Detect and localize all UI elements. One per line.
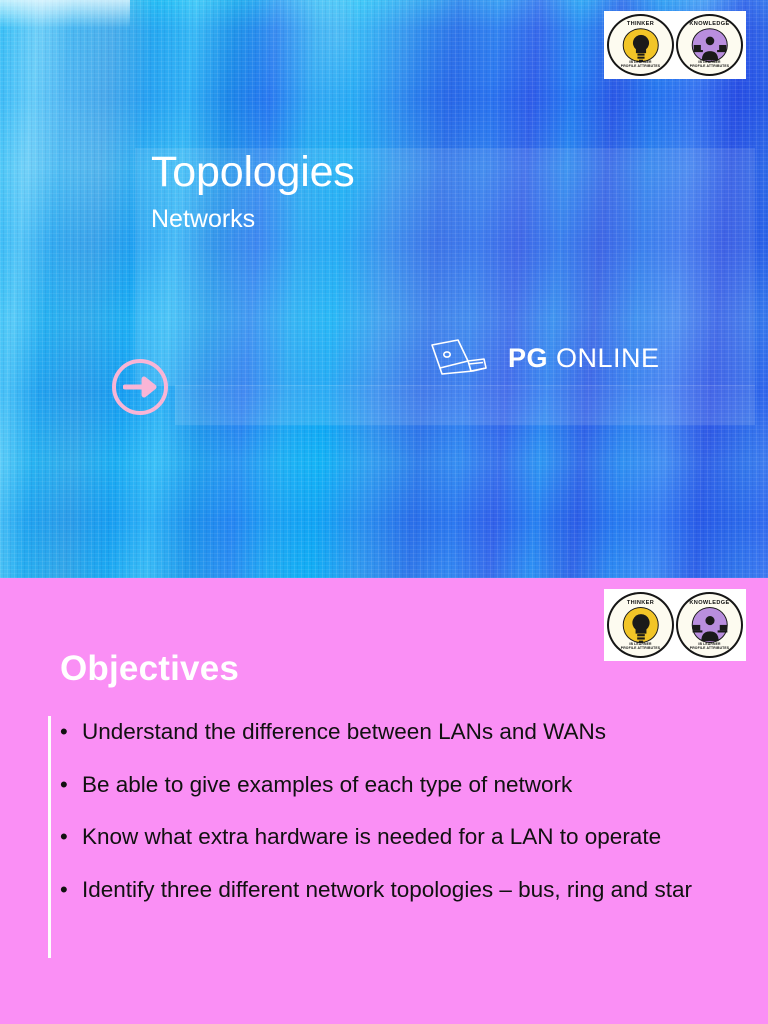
bullet-dot-icon: • bbox=[60, 821, 82, 853]
badge-thinker-caption-bottom: IB LEARNER PROFILE ATTRIBUTES bbox=[609, 643, 672, 650]
bullet-dot-icon: • bbox=[60, 874, 82, 906]
background-paint-base bbox=[0, 0, 768, 578]
list-item: • Know what extra hardware is needed for… bbox=[60, 821, 740, 854]
ib-badges-top: THINKER IB LEARNER PROFILE ATTRIBUTES bbox=[604, 11, 746, 79]
lower-overlay-band bbox=[175, 385, 755, 425]
background-white-scuff bbox=[0, 0, 130, 32]
background-canvas-weave bbox=[0, 0, 768, 578]
badge-thinker-caption-line2: PROFILE ATTRIBUTES bbox=[621, 646, 660, 650]
objectives-heading: Objectives bbox=[60, 649, 239, 689]
badge-thinker: THINKER IB LEARNER PROFILE ATTRIBUTES bbox=[607, 592, 674, 658]
background-paint-blotches bbox=[0, 0, 768, 578]
brand-secondary: ONLINE bbox=[556, 343, 660, 373]
bullet-list-rule bbox=[48, 716, 51, 958]
background-paint-shading bbox=[0, 0, 768, 578]
bullet-dot-icon: • bbox=[60, 716, 82, 748]
list-item-label: Identify three different network topolog… bbox=[82, 874, 740, 907]
badge-knowledge-caption-bottom: IB LEARNER PROFILE ATTRIBUTES bbox=[678, 643, 741, 650]
page-title: Topologies bbox=[151, 150, 355, 195]
badge-knowledge-caption-bottom: IB LEARNER PROFILE ATTRIBUTES bbox=[678, 61, 741, 68]
list-item-label: Be able to give examples of each type of… bbox=[82, 769, 740, 802]
badge-knowledge-caption-line2: PROFILE ATTRIBUTES bbox=[690, 64, 729, 68]
list-item: • Be able to give examples of each type … bbox=[60, 769, 740, 802]
background-paint-striations bbox=[0, 0, 768, 578]
badge-thinker-caption-line2: PROFILE ATTRIBUTES bbox=[621, 64, 660, 68]
badge-knowledge: KNOWLEDGE IB LEARNER PROFILE ATTRIBUTES bbox=[676, 592, 743, 658]
brand-primary: PG bbox=[508, 343, 548, 373]
list-item-label: Understand the difference between LANs a… bbox=[82, 716, 740, 749]
brand-logo: PG ONLINE bbox=[428, 335, 660, 381]
presentation-page: Topologies Networks bbox=[0, 0, 768, 1024]
brand-wordmark: PG ONLINE bbox=[508, 345, 660, 372]
ib-badges-bottom: THINKER IB LEARNER PROFILE ATTRIBUTES KN… bbox=[604, 589, 746, 661]
badge-thinker: THINKER IB LEARNER PROFILE ATTRIBUTES bbox=[607, 14, 674, 76]
slide-title: Topologies Networks bbox=[0, 0, 768, 578]
page-subtitle: Networks bbox=[151, 205, 255, 234]
next-slide-button[interactable] bbox=[112, 359, 168, 415]
list-item: • Identify three different network topol… bbox=[60, 874, 740, 907]
badge-knowledge-caption-line2: PROFILE ATTRIBUTES bbox=[690, 646, 729, 650]
bullet-dot-icon: • bbox=[60, 769, 82, 801]
badge-knowledge: KNOWLEDGE IB LEARNER PROFILE ATTRIBUTES bbox=[676, 14, 743, 76]
laptop-outline-icon bbox=[428, 337, 494, 379]
badge-thinker-caption-bottom: IB LEARNER PROFILE ATTRIBUTES bbox=[609, 61, 672, 68]
list-item-label: Know what extra hardware is needed for a… bbox=[82, 821, 740, 854]
list-item: • Understand the difference between LANs… bbox=[60, 716, 740, 749]
objectives-bullet-list: • Understand the difference between LANs… bbox=[60, 716, 740, 927]
